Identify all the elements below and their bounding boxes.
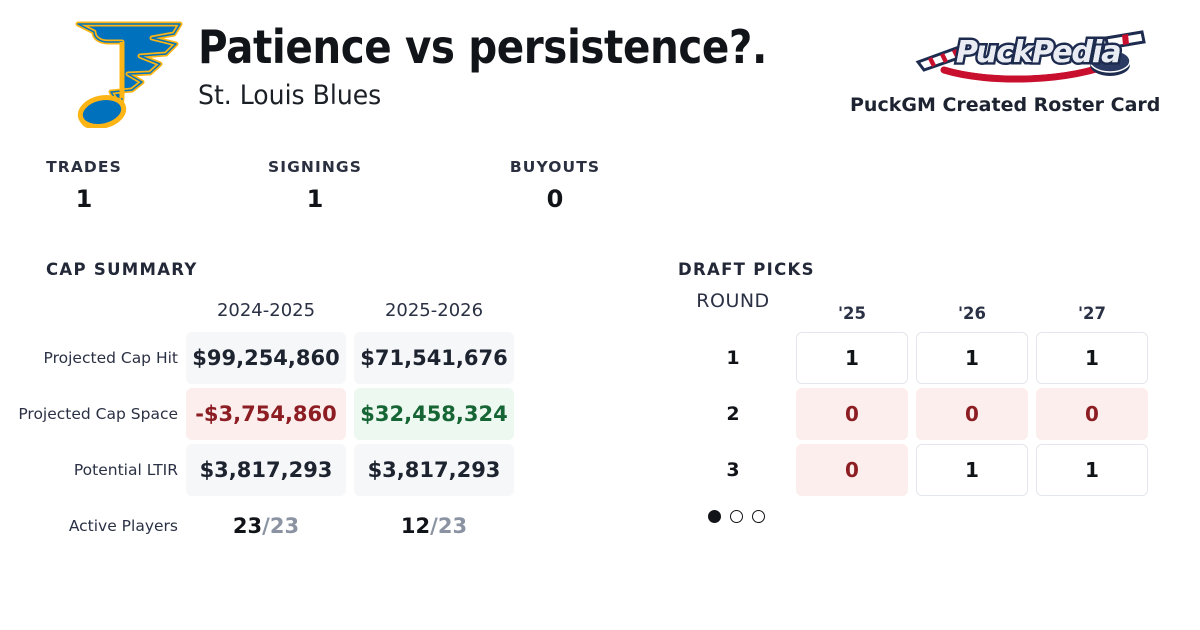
active-players-total-2024-2025: /23	[262, 514, 299, 538]
cap-value-projected-cap-space-2025-2026: $32,458,324	[354, 388, 514, 440]
draft-year-header-25: '25	[796, 304, 908, 323]
pagination-dot-2[interactable]	[730, 510, 743, 523]
cap-summary-heading: CAP SUMMARY	[46, 260, 198, 279]
table-row: 2 0 0 0	[678, 388, 1158, 440]
cap-row-label-projected-cap-space: Projected Cap Space	[46, 388, 186, 440]
cap-value-potential-ltir-2025-2026: $3,817,293	[354, 444, 514, 496]
cap-value-projected-cap-space-2024-2025: -$3,754,860	[186, 388, 346, 440]
summary-stats: TRADES 1 SIGNINGS 1 BUYOUTS 0	[0, 158, 660, 220]
draft-round-label-1: 1	[678, 332, 788, 384]
cap-value-active-players-2025-2026: 12/23	[354, 500, 514, 552]
cap-row-label-active-players: Active Players	[46, 500, 186, 552]
pagination-dot-3[interactable]	[752, 510, 765, 523]
cap-value-projected-cap-hit-2024-2025: $99,254,860	[186, 332, 346, 384]
table-row: 1 1 1 1	[678, 332, 1158, 384]
draft-round-column-header: ROUND	[678, 290, 788, 312]
active-players-total-2025-2026: /23	[430, 514, 467, 538]
cap-row-label-potential-ltir: Potential LTIR	[46, 444, 186, 496]
roster-card: Patience vs persistence?... St. Louis Bl…	[0, 0, 1200, 630]
draft-pick-round3-25: 0	[796, 444, 908, 496]
draft-pick-round2-26: 0	[916, 388, 1028, 440]
stat-buyouts: BUYOUTS 0	[455, 158, 655, 213]
draft-pick-round2-25: 0	[796, 388, 908, 440]
cap-value-projected-cap-hit-2025-2026: $71,541,676	[354, 332, 514, 384]
table-row: Potential LTIR $3,817,293 $3,817,293	[46, 444, 546, 496]
cap-value-active-players-2024-2025: 23/23	[186, 500, 346, 552]
puckpedia-logo-icon: PuckPedia PuckPedia	[910, 22, 1150, 84]
stat-signings-label: SIGNINGS	[215, 158, 415, 176]
draft-picks-heading: DRAFT PICKS	[678, 260, 815, 279]
cap-season-header-2024-2025: 2024-2025	[186, 300, 346, 321]
stat-buyouts-label: BUYOUTS	[455, 158, 655, 176]
cap-row-label-projected-cap-hit: Projected Cap Hit	[46, 332, 186, 384]
draft-pick-round1-26: 1	[916, 332, 1028, 384]
draft-year-header-26: '26	[916, 304, 1028, 323]
draft-picks-pagination[interactable]	[708, 510, 765, 523]
active-players-count-2024-2025: 23	[233, 514, 262, 538]
active-players-count-2025-2026: 12	[401, 514, 430, 538]
brand-caption: PuckGM Created Roster Card	[850, 94, 1150, 116]
svg-text:PuckPedia: PuckPedia	[956, 35, 1121, 70]
draft-round-label-2: 2	[678, 388, 788, 440]
stat-trades-label: TRADES	[0, 158, 184, 176]
draft-pick-round2-27: 0	[1036, 388, 1148, 440]
stat-signings: SIGNINGS 1	[215, 158, 415, 213]
cap-summary-table: 2024-2025 2025-2026 Projected Cap Hit $9…	[46, 300, 546, 556]
cap-value-potential-ltir-2024-2025: $3,817,293	[186, 444, 346, 496]
st-louis-blues-note-icon	[56, 16, 196, 128]
cap-season-header-2025-2026: 2025-2026	[354, 300, 514, 321]
brand-block: PuckPedia PuckPedia PuckGM Created Roste…	[850, 22, 1150, 116]
table-row: Projected Cap Space -$3,754,860 $32,458,…	[46, 388, 546, 440]
draft-year-header-27: '27	[1036, 304, 1148, 323]
draft-pick-round1-25: 1	[796, 332, 908, 384]
draft-pick-round1-27: 1	[1036, 332, 1148, 384]
draft-pick-round3-26: 1	[916, 444, 1028, 496]
draft-round-label-3: 3	[678, 444, 788, 496]
draft-picks-table: ROUND '25 '26 '27 1 1 1 1 2 0 0 0 3 0 1 …	[678, 290, 1158, 500]
table-row: Active Players 23/23 12/23	[46, 500, 546, 552]
page-title: Patience vs persistence?...	[198, 22, 770, 74]
stat-trades-value: 1	[0, 185, 184, 213]
pagination-dot-1[interactable]	[708, 510, 721, 523]
draft-picks-header-row: ROUND '25 '26 '27	[678, 290, 1158, 332]
table-row: 3 0 1 1	[678, 444, 1158, 496]
table-row: Projected Cap Hit $99,254,860 $71,541,67…	[46, 332, 546, 384]
title-block: Patience vs persistence?... St. Louis Bl…	[198, 22, 848, 111]
stat-trades: TRADES 1	[0, 158, 184, 213]
card-header: Patience vs persistence?... St. Louis Bl…	[0, 0, 1200, 140]
draft-pick-round3-27: 1	[1036, 444, 1148, 496]
stat-buyouts-value: 0	[455, 185, 655, 213]
team-name: St. Louis Blues	[198, 80, 803, 111]
stat-signings-value: 1	[215, 185, 415, 213]
cap-summary-header-row: 2024-2025 2025-2026	[46, 300, 546, 332]
